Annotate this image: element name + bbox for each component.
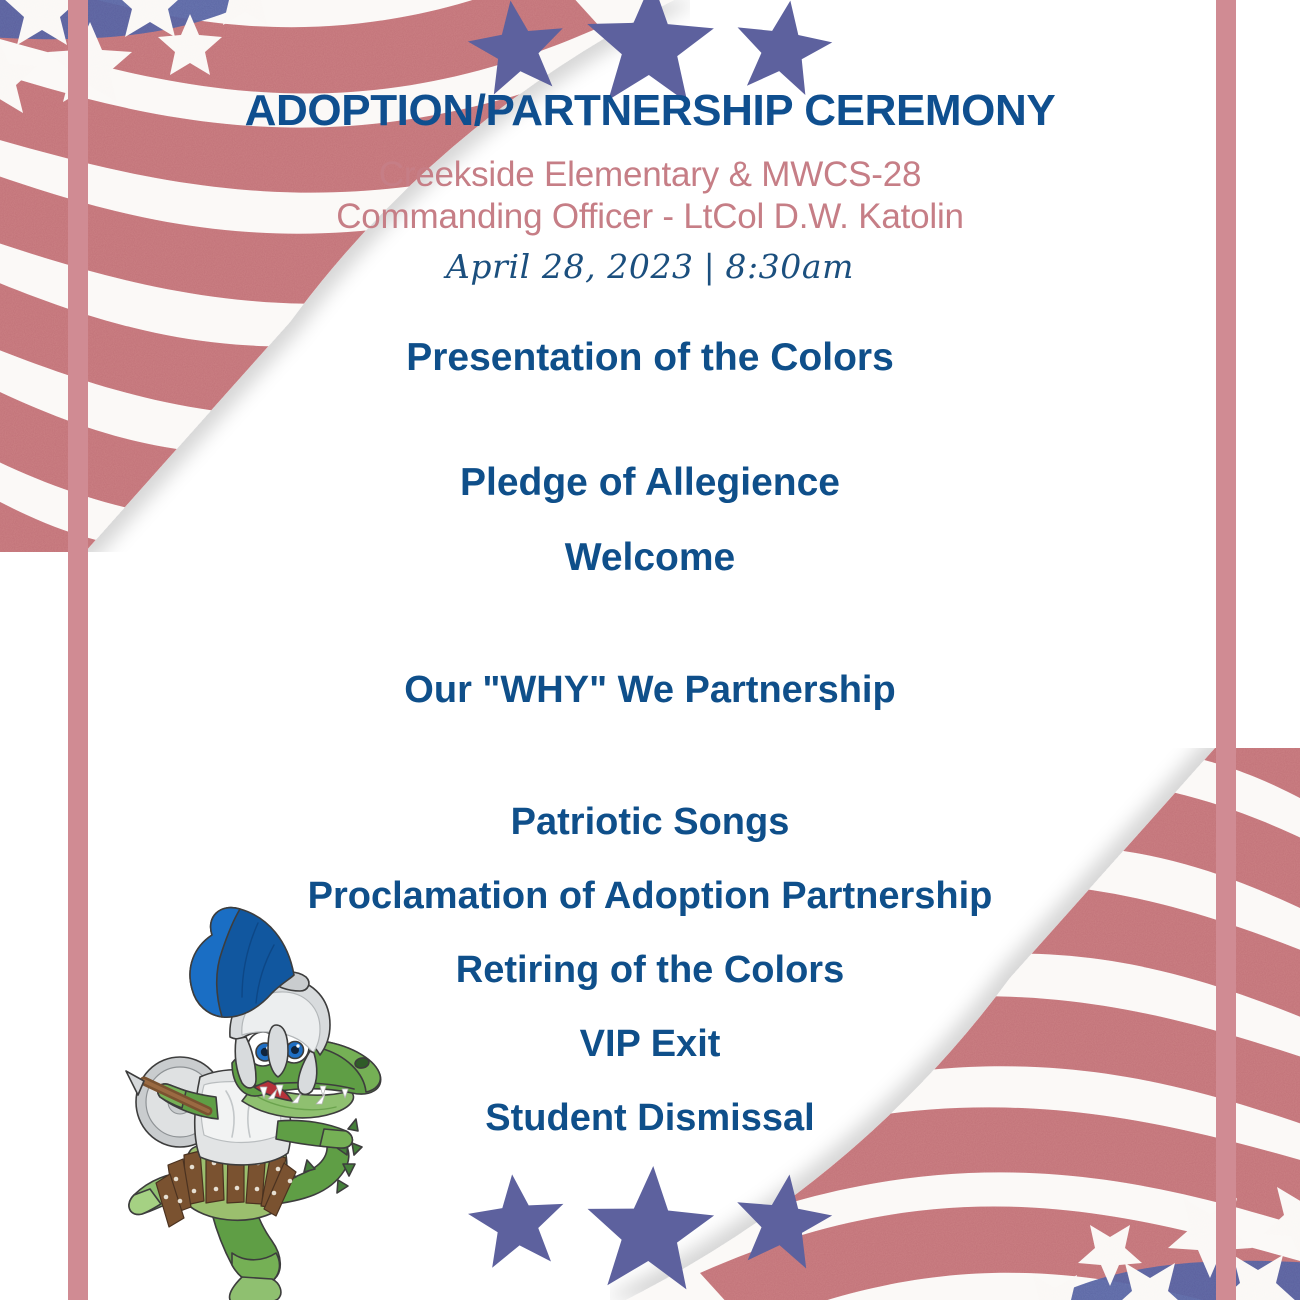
event-date: April 28, 2023 xyxy=(446,247,694,286)
program-list: Presentation of the Colors Pledge of All… xyxy=(110,338,1190,1137)
program-item-pledge-of-allegience: Pledge of Allegience xyxy=(110,463,1190,502)
program-item-presentation-of-the-colors: Presentation of the Colors xyxy=(110,338,1190,377)
event-time: 8:30am xyxy=(725,247,854,286)
program-item-vip-exit: VIP Exit xyxy=(110,1025,1190,1063)
ceremony-program-poster: ADOPTION/PARTNERSHIP CEREMONY Creekside … xyxy=(0,0,1300,1300)
page-title: ADOPTION/PARTNERSHIP CEREMONY xyxy=(110,0,1190,135)
star-icon xyxy=(461,1165,573,1277)
event-datetime: April 28, 2023|8:30am xyxy=(110,239,1190,286)
star-icon xyxy=(581,1159,720,1298)
subtitle-line-1: Creekside Elementary & MWCS-28 xyxy=(110,154,1190,197)
subtitle-block: Creekside Elementary & MWCS-28 Commandin… xyxy=(110,135,1190,239)
program-item-proclamation-of-adoption-partnership: Proclamation of Adoption Partnership xyxy=(110,877,1190,915)
star-cluster-bottom xyxy=(0,1172,1300,1292)
poster-content: ADOPTION/PARTNERSHIP CEREMONY Creekside … xyxy=(110,0,1190,1137)
border-rail-left xyxy=(68,0,88,1300)
star-icon xyxy=(725,1163,840,1278)
program-item-retiring-of-the-colors: Retiring of the Colors xyxy=(110,951,1190,989)
program-item-our-why-we-partnership: Our "WHY" We Partnership xyxy=(110,671,1190,709)
border-rail-right xyxy=(1216,0,1236,1300)
program-item-patriotic-songs: Patriotic Songs xyxy=(110,803,1190,841)
subtitle-line-2: Commanding Officer - LtCol D.W. Katolin xyxy=(110,196,1190,239)
datetime-separator: | xyxy=(694,247,726,286)
program-item-student-dismissal: Student Dismissal xyxy=(110,1099,1190,1137)
program-item-welcome: Welcome xyxy=(110,538,1190,577)
